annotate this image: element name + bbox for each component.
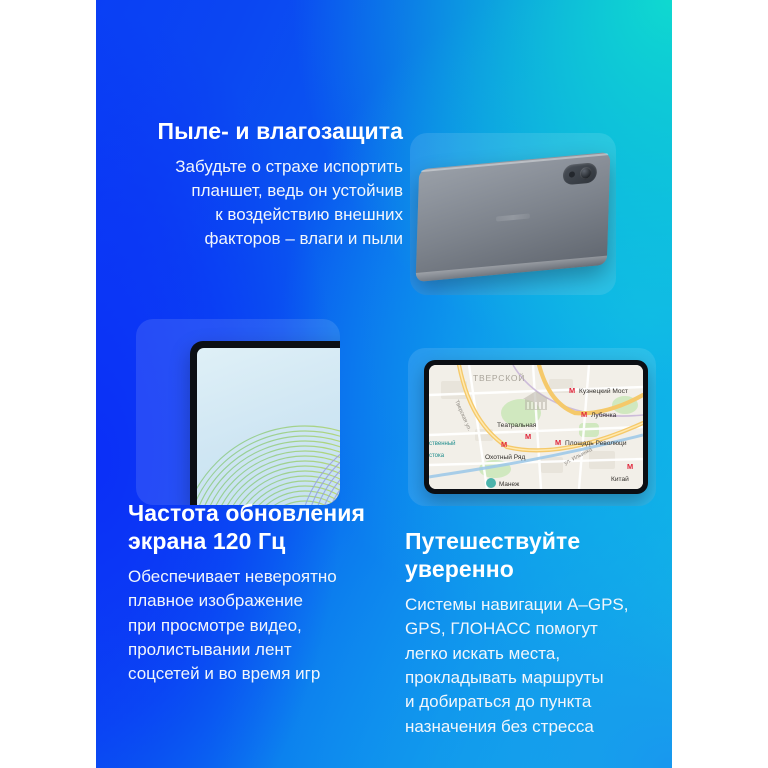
- gradient-background: ТВЕРСКОЙ Тверская ул. ул. Ильинка M Кузн…: [96, 0, 672, 768]
- svg-text:M: M: [569, 386, 575, 395]
- section-refresh-rate: Частота обновления экрана 120 Гц Обеспеч…: [128, 500, 380, 687]
- svg-text:Театральная: Театральная: [497, 422, 537, 429]
- heading-refresh-rate: Частота обновления экрана 120 Гц: [128, 500, 380, 555]
- svg-text:ственный: ственный: [429, 440, 456, 447]
- section-navigation: Путешествуйте уверенно Системы навигации…: [405, 528, 655, 739]
- heading-dust-water-protection: Пыле- и влагозащита: [133, 118, 403, 146]
- svg-text:Площадь Революци: Площадь Революци: [565, 440, 627, 447]
- svg-text:Манеж: Манеж: [499, 481, 520, 488]
- camera-module-icon: [563, 162, 597, 185]
- media-card-tablet-screen: [136, 319, 340, 505]
- svg-text:M: M: [627, 462, 633, 471]
- svg-text:M: M: [501, 440, 507, 449]
- media-card-tablet-back: [410, 133, 616, 295]
- svg-text:Лубянка: Лубянка: [591, 411, 617, 419]
- svg-text:M: M: [581, 410, 587, 419]
- tablet-rear-panel: [416, 152, 611, 282]
- body-refresh-rate: Обеспечивает невероятно плавное изображе…: [128, 565, 380, 686]
- tablet-display-bezel: [190, 341, 340, 505]
- media-card-map: ТВЕРСКОЙ Тверская ул. ул. Ильинка M Кузн…: [408, 348, 656, 506]
- map-tablet-bezel: ТВЕРСКОЙ Тверская ул. ул. Ильинка M Кузн…: [424, 360, 648, 494]
- svg-text:Китай: Китай: [611, 475, 629, 483]
- wallpaper-arcs-graphic: [197, 355, 340, 505]
- body-navigation: Системы навигации A–GPS, GPS, ГЛОНАСС по…: [405, 593, 655, 739]
- body-dust-water-protection: Забудьте о страхе испортить планшет, вед…: [133, 155, 403, 252]
- svg-text:M: M: [525, 432, 531, 441]
- svg-text:ТВЕРСКОЙ: ТВЕРСКОЙ: [473, 372, 525, 383]
- promo-poster: ТВЕРСКОЙ Тверская ул. ул. Ильинка M Кузн…: [0, 0, 768, 768]
- heading-navigation: Путешествуйте уверенно: [405, 528, 655, 583]
- svg-text:Охотный Ряд: Охотный Ряд: [485, 453, 525, 461]
- svg-text:Кузнецкий Мост: Кузнецкий Мост: [579, 387, 628, 395]
- map-viewport[interactable]: ТВЕРСКОЙ Тверская ул. ул. Ильинка M Кузн…: [429, 365, 643, 489]
- tablet-display-surface: [197, 348, 340, 505]
- svg-text:стока: стока: [429, 453, 445, 459]
- section-dust-water-protection: Пыле- и влагозащита Забудьте о страхе ис…: [133, 118, 403, 252]
- svg-text:M: M: [555, 438, 561, 447]
- brand-logo: [496, 213, 530, 221]
